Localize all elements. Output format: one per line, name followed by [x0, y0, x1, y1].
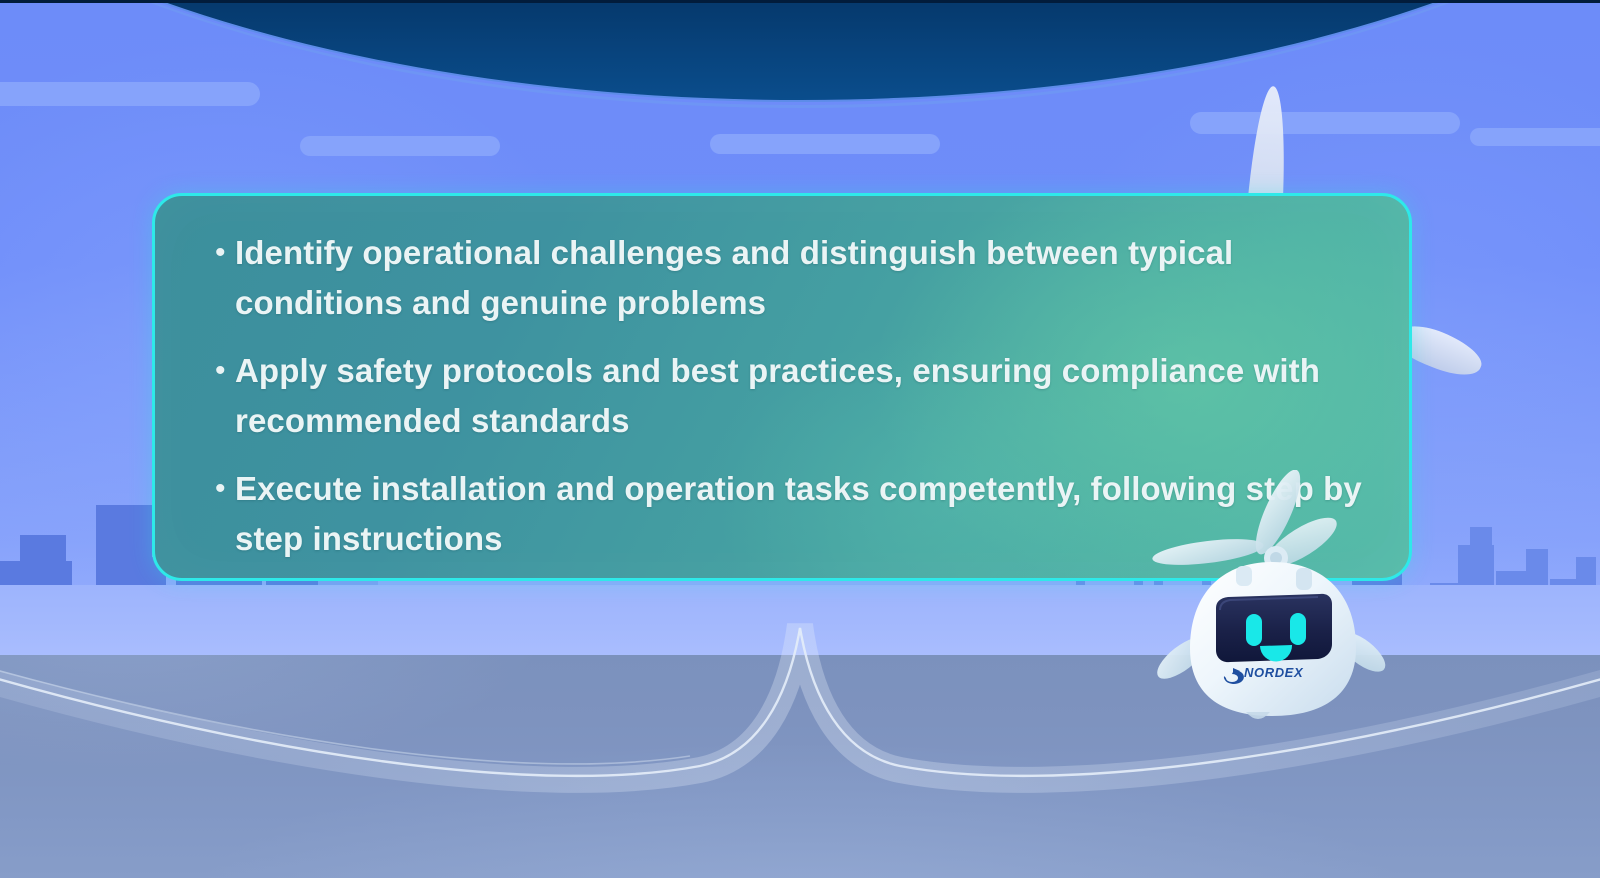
robot-foot-left — [1246, 712, 1270, 719]
bullet-marker-icon: • — [215, 464, 235, 514]
robot-eye-right — [1290, 613, 1306, 645]
list-item: • Apply safety protocols and best practi… — [215, 346, 1369, 446]
list-item: • Identify operational challenges and di… — [215, 228, 1369, 328]
nordex-assistant-robot: NORDEX — [1150, 470, 1400, 720]
cloud-icon — [710, 90, 940, 156]
robot-nub-left — [1236, 566, 1252, 586]
robot-rotor-icon — [1151, 470, 1343, 575]
cloud-icon — [0, 40, 260, 110]
robot-eye-left — [1246, 614, 1262, 646]
vr-scene-stage: • Identify operational challenges and di… — [0, 0, 1600, 878]
bullet-text: Apply safety protocols and best practice… — [235, 346, 1369, 446]
robot-nub-right — [1296, 568, 1312, 590]
frame-edge-top — [0, 0, 1600, 3]
bullet-marker-icon: • — [215, 346, 235, 396]
nordex-logo-text: NORDEX — [1244, 665, 1304, 680]
cloud-icon — [1470, 92, 1600, 146]
bullet-text: Identify operational challenges and dist… — [235, 228, 1369, 328]
cloud-icon — [300, 100, 500, 160]
bullet-marker-icon: • — [215, 228, 235, 278]
cloud-icon — [1190, 60, 1460, 138]
